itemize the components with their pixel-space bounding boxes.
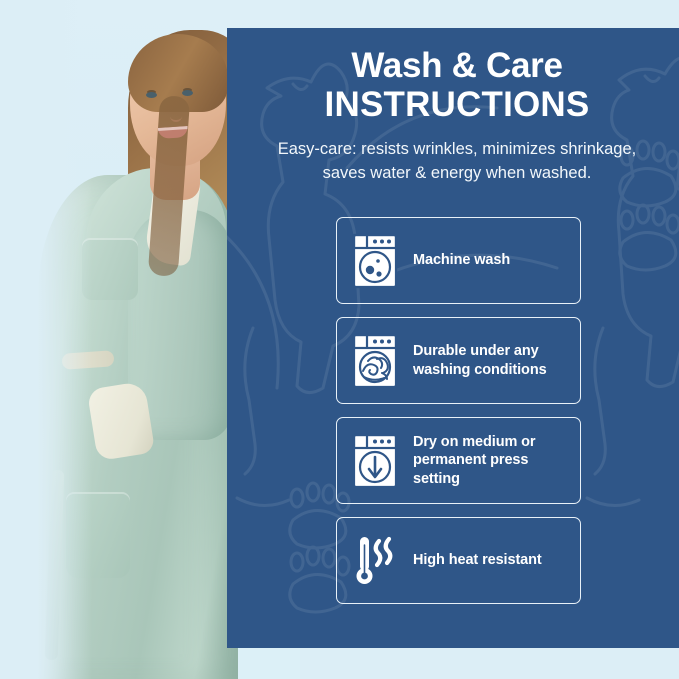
instruction-card-heat-resistant[interactable]: High heat resistant [336, 517, 581, 604]
instruction-label: Durable under any washing conditions [413, 342, 570, 379]
instruction-card-durable[interactable]: Durable under any washing conditions [336, 317, 581, 404]
instruction-card-machine-wash[interactable]: Machine wash [336, 217, 581, 304]
instruction-card-dry-setting[interactable]: Dry on medium or permanent press setting [336, 417, 581, 504]
header-block: Wash & Care INSTRUCTIONS Easy-care: resi… [247, 46, 667, 186]
instruction-label: High heat resistant [413, 551, 542, 570]
page-title-line1: Wash & Care [247, 46, 667, 85]
model-nose [170, 108, 182, 122]
washing-machine-swirl-icon [349, 330, 401, 392]
instruction-label: Dry on medium or permanent press setting [413, 433, 570, 489]
dryer-down-arrow-icon [349, 430, 401, 492]
page-subtitle: Easy-care: resists wrinkles, minimizes s… [257, 138, 657, 186]
wash-care-infographic: Wash & Care INSTRUCTIONS Easy-care: resi… [0, 0, 679, 679]
photo-left-fade [0, 0, 92, 679]
instruction-card-list: Machine wash [336, 217, 581, 604]
instruction-label: Machine wash [413, 251, 510, 270]
model-eye-left [146, 92, 157, 98]
model-eye-right [182, 90, 193, 96]
washing-machine-icon [349, 230, 401, 292]
thermometer-heat-icon [349, 530, 401, 592]
page-title-line2: INSTRUCTIONS [247, 85, 667, 124]
